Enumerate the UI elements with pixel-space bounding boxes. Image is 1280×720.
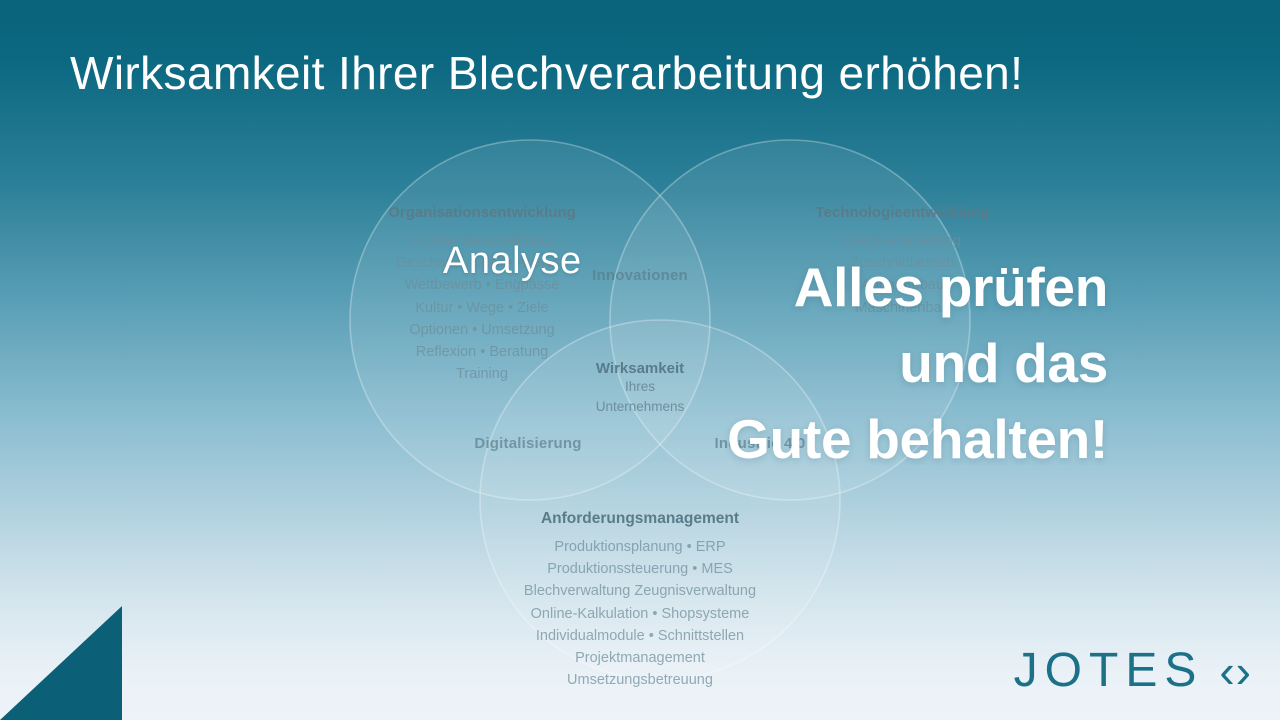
venn-item: Online-Kalkulation • Shopsysteme [400, 603, 880, 625]
main-message-line-2: und das [727, 326, 1108, 402]
presentation-slide: Wirksamkeit Ihrer Blechverarbeitung erhö… [0, 0, 1280, 720]
venn-item: Kultur • Wege • Ziele [292, 297, 672, 319]
venn-item: Optionen • Umsetzung [292, 319, 672, 341]
venn-item: Individualmodule • Schnittstellen [400, 625, 880, 647]
venn-group-anforderung: Anforderungsmanagement Produktionsplanun… [400, 510, 880, 691]
venn-item: Blechverarbeitung [630, 230, 1175, 252]
corner-triangle-decoration [0, 606, 122, 720]
logo-chevrons-icon: ‹› [1219, 648, 1252, 694]
venn-label-digitalisierung: Digitalisierung [408, 434, 648, 453]
venn-item: Blechverwaltung Zeugnisverwaltung [400, 580, 880, 602]
venn-item: Produktionssteuerung • MES [400, 558, 880, 580]
main-message: Alles prüfen und das Gute behalten! [727, 250, 1108, 478]
overlay-word-analyse: Analyse [443, 240, 582, 283]
venn-heading-technologie: Technologieentwicklung [630, 204, 1175, 221]
page-title: Wirksamkeit Ihrer Blechverarbeitung erhö… [70, 46, 1023, 100]
main-message-line-3: Gute behalten! [727, 402, 1108, 478]
venn-item: Umsetzungsbetreuung [400, 669, 880, 691]
main-message-line-1: Alles prüfen [727, 250, 1108, 326]
venn-heading-anforderung: Anforderungsmanagement [400, 510, 880, 528]
venn-group-organisation: Organisationsentwicklung Problembeschrei… [292, 204, 672, 385]
venn-heading-organisation: Organisationsentwicklung [292, 204, 672, 221]
venn-item: Projektmanagement [400, 647, 880, 669]
brand-logo: JOTES ‹› [1014, 643, 1252, 698]
venn-item: Produktionsplanung • ERP [400, 536, 880, 558]
logo-wordmark: JOTES [1014, 643, 1204, 698]
